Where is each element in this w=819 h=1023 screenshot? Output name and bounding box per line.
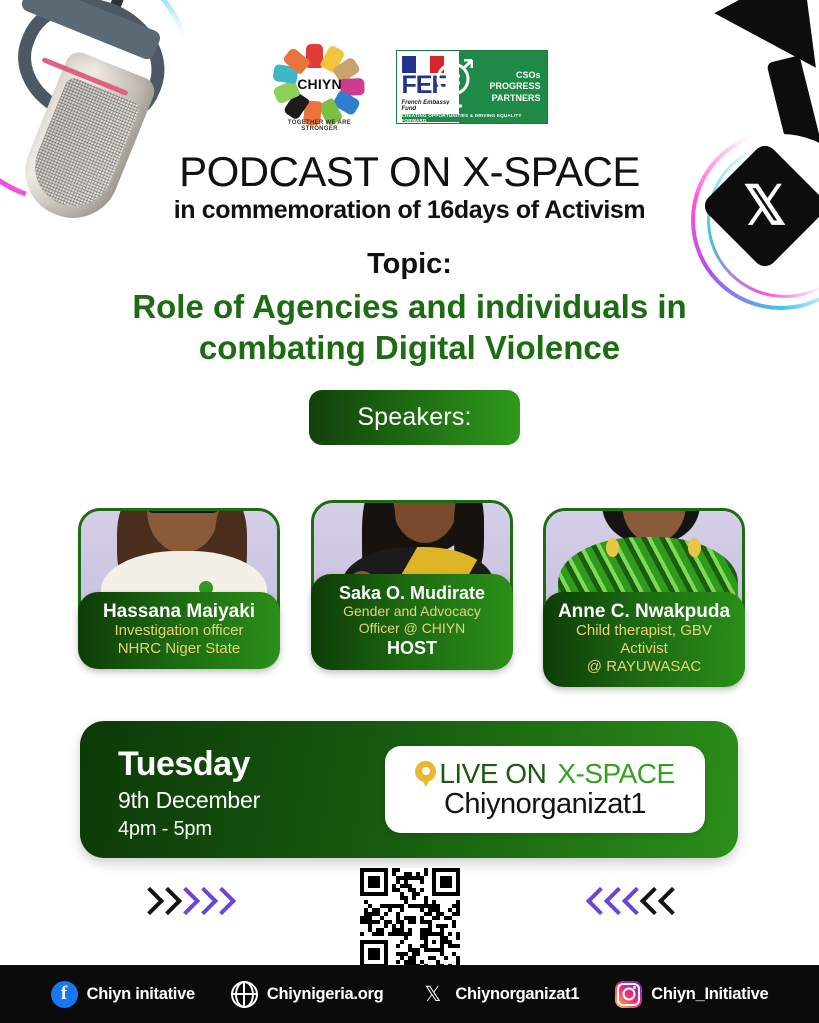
social-website[interactable]: Chiynigeria.org: [231, 981, 384, 1008]
qr-code[interactable]: [360, 868, 460, 968]
speakers-badge-label: Speakers:: [357, 403, 471, 432]
globe-icon: [231, 981, 258, 1008]
topic-label: Topic:: [0, 248, 819, 281]
social-label: Chiyn initative: [87, 985, 195, 1004]
speaker-role-line-2: @ RAYUWASAC: [551, 658, 737, 676]
platform-label: X-SPACE: [557, 758, 674, 790]
topic-text: Role of Agencies and individuals in comb…: [56, 286, 763, 369]
sponsor-logos: CHIYN TOGETHER WE ARE STRONGER FEF Frenc…: [0, 44, 819, 130]
fef-strip-text: CREATING OPPORTUNITIES & DRIVING EQUALIT…: [402, 114, 545, 122]
social-label: Chiynorganizat1: [455, 985, 579, 1004]
event-day: Tuesday: [118, 745, 250, 784]
chevron-left-icon: [656, 888, 682, 918]
speaker-role-line-1: Child therapist, GBV Activist: [551, 622, 737, 658]
speaker-role-line-2: Officer @ CHIYN: [319, 620, 505, 637]
social-label: Chiynigeria.org: [267, 985, 384, 1004]
live-handle-box[interactable]: LIVE ON X-SPACE Chiynorganizat1: [385, 746, 705, 833]
fef-logo: FEF French Embassy Fund CSOs PROGRESS PA…: [396, 50, 548, 124]
event-poster: 𝕏 CHIYN TOGETHER WE ARE STRONGER FEF: [0, 0, 819, 1023]
chiyn-logo-tagline: TOGETHER WE ARE STRONGER: [272, 120, 368, 132]
live-on-label: LIVE ON: [439, 758, 546, 790]
fef-line-2: PROGRESS: [489, 81, 540, 92]
social-x[interactable]: 𝕏 Chiynorganizat1: [419, 981, 579, 1008]
topic-line-2: combating Digital Violence: [56, 327, 763, 368]
speaker-card: Hassana Maiyaki Investigation officer NH…: [78, 508, 280, 669]
event-date: 9th December: [118, 787, 260, 814]
social-facebook[interactable]: f Chiyn initative: [51, 981, 195, 1008]
chiyn-logo: CHIYN TOGETHER WE ARE STRONGER: [272, 44, 368, 130]
instagram-icon: [615, 981, 642, 1008]
chevron-right-icon: [210, 888, 236, 918]
event-time: 4pm - 5pm: [118, 818, 212, 841]
x-twitter-icon: 𝕏: [419, 981, 446, 1008]
account-handle[interactable]: Chiynorganizat1: [444, 788, 646, 821]
speakers-badge: Speakers:: [309, 390, 520, 445]
speaker-card: Anne C. Nwakpuda Child therapist, GBV Ac…: [543, 508, 745, 687]
speaker-role-line-1: Investigation officer: [86, 622, 272, 640]
speaker-role-line-2: NHRC Niger State: [86, 640, 272, 658]
chevrons-right-decoration: [138, 888, 228, 918]
poster-subtitle: in commemoration of 16days of Activism: [0, 196, 819, 225]
live-on-row: LIVE ON X-SPACE: [415, 758, 674, 790]
social-instagram[interactable]: Chiyn_Initiative: [615, 981, 768, 1008]
fef-line-1: CSOs: [516, 70, 541, 81]
social-label: Chiyn_Initiative: [651, 985, 768, 1004]
location-pin-icon: [415, 761, 436, 787]
social-footer: f Chiyn initative Chiynigeria.org 𝕏 Chiy…: [0, 965, 819, 1023]
speaker-name: Anne C. Nwakpuda: [551, 601, 737, 622]
gender-equality-icon: [433, 59, 473, 117]
qr-code-image: [360, 868, 460, 968]
speaker-name: Hassana Maiyaki: [86, 601, 272, 622]
speakers-list: Hassana Maiyaki Investigation officer NH…: [0, 450, 819, 720]
chiyn-logo-name: CHIYN: [272, 76, 368, 92]
event-details-panel: Tuesday 9th December 4pm - 5pm LIVE ON X…: [80, 721, 738, 858]
speaker-name-plate: Anne C. Nwakpuda Child therapist, GBV Ac…: [543, 592, 745, 687]
speaker-name: Saka O. Mudirate: [319, 583, 505, 603]
speaker-name-plate: Hassana Maiyaki Investigation officer NH…: [78, 592, 280, 669]
speaker-host-label: HOST: [319, 638, 505, 659]
topic-line-1: Role of Agencies and individuals in: [132, 288, 686, 325]
fef-line-3: PARTNERS: [492, 93, 541, 104]
facebook-icon: f: [51, 981, 78, 1008]
speaker-role-line-1: Gender and Advocacy: [319, 603, 505, 620]
speaker-name-plate: Saka O. Mudirate Gender and Advocacy Off…: [311, 574, 513, 670]
chevrons-left-decoration: [584, 888, 674, 918]
speaker-card: Saka O. Mudirate Gender and Advocacy Off…: [311, 500, 513, 670]
poster-title: PODCAST ON X-SPACE: [0, 148, 819, 196]
